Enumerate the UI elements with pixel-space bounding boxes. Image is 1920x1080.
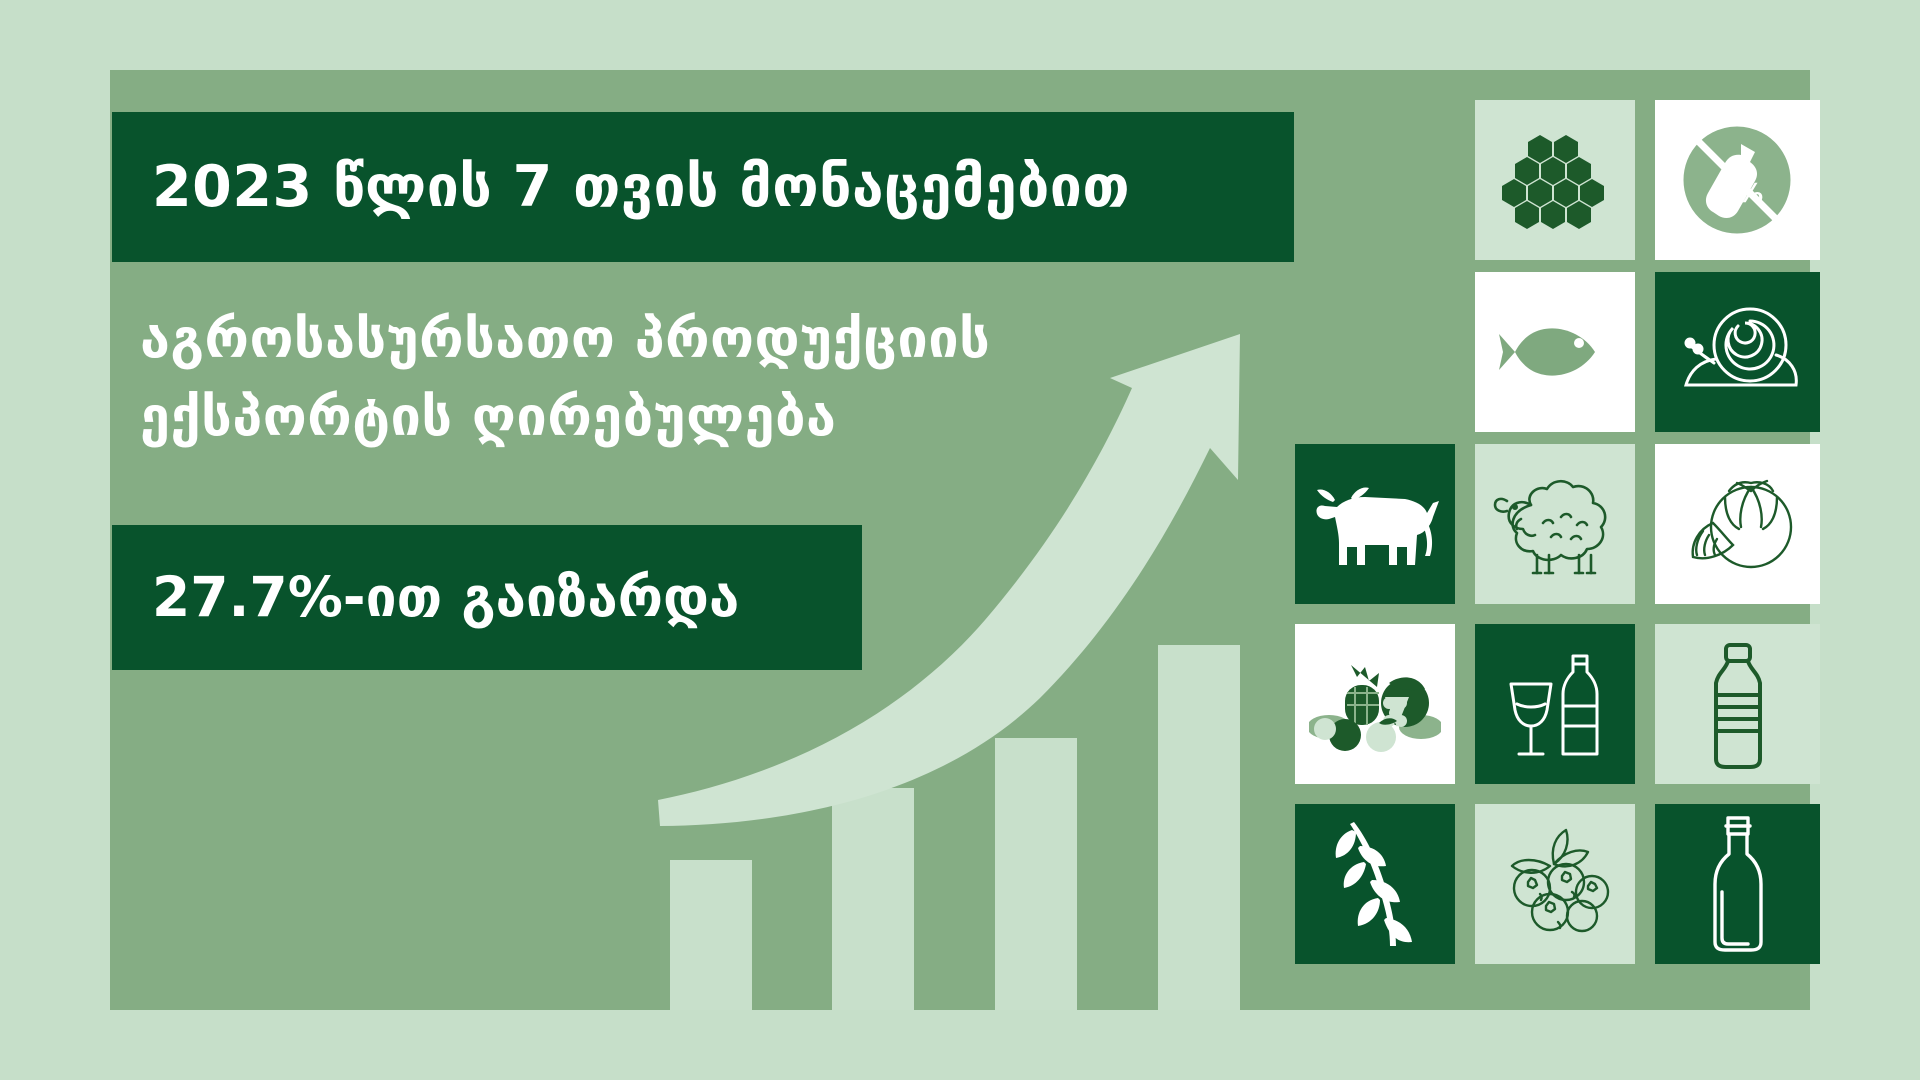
water-bottle-icon <box>1700 639 1776 769</box>
infographic-canvas: 2023 წლის 7 თვის მონაცემებით აგროსასურსა… <box>0 0 1920 1080</box>
fruits-vegetables-icon <box>1309 649 1441 759</box>
tile-snail <box>1655 272 1820 432</box>
tile-no-alcohol: 0% <box>1655 100 1820 260</box>
product-icon-grid: 0% <box>1295 100 1820 990</box>
sheep-icon <box>1491 469 1619 579</box>
page-title: აგროსასურსათო პროდუქციის ექსპორტის ღირებ… <box>140 300 1260 457</box>
glass-bottle-icon <box>1702 814 1774 954</box>
melon-icon <box>1673 469 1803 579</box>
tile-honeycomb <box>1475 100 1635 260</box>
tile-sheep <box>1475 444 1635 604</box>
tile-fish <box>1475 272 1635 432</box>
tile-water-bottle <box>1655 624 1820 784</box>
honeycomb-icon <box>1500 125 1610 235</box>
tile-melon <box>1655 444 1820 604</box>
tile-wine <box>1475 624 1635 784</box>
tile-herb-branch <box>1295 804 1455 964</box>
cow-icon <box>1311 476 1439 572</box>
herb-branch-icon <box>1320 814 1430 954</box>
tile-fruits-vegetables <box>1295 624 1455 784</box>
no-alcohol-icon: 0% <box>1675 118 1800 243</box>
fish-icon <box>1495 307 1615 397</box>
wine-icon <box>1495 642 1615 766</box>
blueberries-icon <box>1492 826 1618 942</box>
header-banner: 2023 წლის 7 თვის მონაცემებით <box>112 112 1294 262</box>
highlight-text: 27.7%-ით გაიზარდა <box>112 570 739 625</box>
title-line-2: ექსპორტის ღირებულება <box>140 378 1260 456</box>
no-alcohol-label: 0% <box>1719 179 1763 209</box>
tile-glass-bottle <box>1655 804 1820 964</box>
tile-blueberries <box>1475 804 1635 964</box>
highlight-banner: 27.7%-ით გაიზარდა <box>112 525 862 670</box>
tile-cow <box>1295 444 1455 604</box>
header-banner-text: 2023 წლის 7 თვის მონაცემებით <box>112 159 1130 216</box>
snail-icon <box>1670 297 1805 407</box>
title-line-1: აგროსასურსათო პროდუქციის <box>140 300 1260 378</box>
chart-bar <box>670 860 752 1010</box>
